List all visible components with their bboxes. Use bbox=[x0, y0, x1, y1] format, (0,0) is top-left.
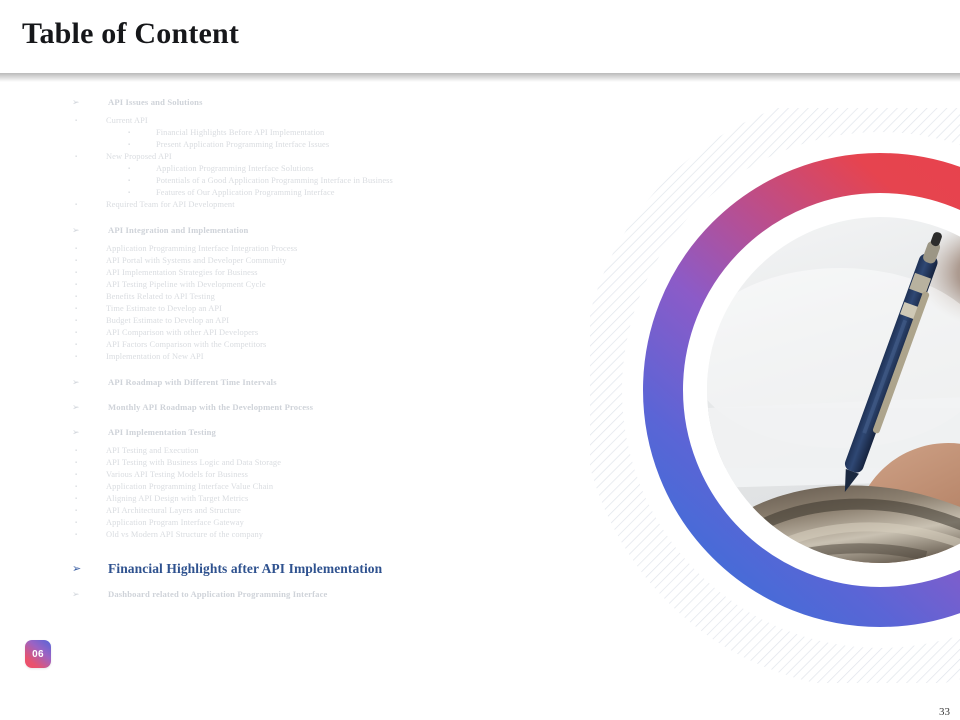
decorative-circle-graphic bbox=[590, 108, 960, 683]
square-bullet-icon: ▪ bbox=[75, 493, 106, 505]
toc-sub-entry[interactable]: ▪API Testing and Execution bbox=[0, 445, 600, 457]
toc-entry-label: API Testing Pipeline with Development Cy… bbox=[106, 279, 600, 291]
toc-sub-entry[interactable]: ▪Financial Highlights Before API Impleme… bbox=[0, 127, 600, 139]
toc-group-heading[interactable]: ➢API Roadmap with Different Time Interva… bbox=[0, 376, 600, 388]
spacer bbox=[0, 438, 600, 445]
toc-entry-label: New Proposed API bbox=[106, 151, 600, 163]
toc-entry-label: Features of Our Application Programming … bbox=[156, 187, 600, 199]
toc-entry-label: API Issues and Solutions bbox=[108, 96, 600, 108]
toc-entry-label: Financial Highlights Before API Implemen… bbox=[156, 127, 600, 139]
spacer bbox=[0, 413, 600, 426]
square-bullet-icon: ▪ bbox=[75, 327, 106, 339]
spacer bbox=[0, 108, 600, 115]
toc-entry-label: API Testing and Execution bbox=[106, 445, 600, 457]
toc-entry-label: Application Program Interface Gateway bbox=[106, 517, 600, 529]
toc-sub-entry[interactable]: ▪Aligning API Design with Target Metrics bbox=[0, 493, 600, 505]
page-title: Table of Content bbox=[22, 17, 239, 51]
toc-sub-entry[interactable]: ▪Application Programming Interface Solut… bbox=[0, 163, 600, 175]
table-of-content-list: ➢API Issues and Solutions▪Current API▪Fi… bbox=[0, 96, 600, 600]
section-number-badge: 06 bbox=[25, 640, 51, 668]
square-bullet-icon: ▪ bbox=[75, 315, 106, 327]
arrow-bullet-icon: ➢ bbox=[72, 96, 108, 108]
toc-group-heading[interactable]: ➢API Issues and Solutions bbox=[0, 96, 600, 108]
square-bullet-icon: ▪ bbox=[75, 255, 106, 267]
square-bullet-icon: ▪ bbox=[75, 457, 106, 469]
toc-entry-label: Aligning API Design with Target Metrics bbox=[106, 493, 600, 505]
toc-sub-entry[interactable]: ▪API Implementation Strategies for Busin… bbox=[0, 267, 600, 279]
square-bullet-icon: ▪ bbox=[75, 267, 106, 279]
toc-sub-entry[interactable]: ▪API Portal with Systems and Developer C… bbox=[0, 255, 600, 267]
square-bullet-icon: ▪ bbox=[75, 291, 106, 303]
toc-entry-label: Old vs Modern API Structure of the compa… bbox=[106, 529, 600, 541]
toc-entry-label: Application Programming Interface Value … bbox=[106, 481, 600, 493]
toc-sub-entry[interactable]: ▪Application Programming Interface Integ… bbox=[0, 243, 600, 255]
page-number: 33 bbox=[939, 706, 950, 718]
square-bullet-icon: ▪ bbox=[75, 151, 106, 163]
square-bullet-icon: ▪ bbox=[128, 139, 156, 151]
toc-group-heading[interactable]: ➢API Implementation Testing bbox=[0, 426, 600, 438]
arrow-bullet-icon: ➢ bbox=[72, 224, 108, 236]
square-bullet-icon: ▪ bbox=[75, 517, 106, 529]
toc-sub-entry[interactable]: ▪API Comparison with other API Developer… bbox=[0, 327, 600, 339]
square-bullet-icon: ▪ bbox=[75, 505, 106, 517]
toc-group-heading[interactable]: ➢API Integration and Implementation bbox=[0, 224, 600, 236]
square-bullet-icon: ▪ bbox=[75, 303, 106, 315]
header-divider bbox=[0, 72, 960, 82]
square-bullet-icon: ▪ bbox=[128, 175, 156, 187]
toc-sub-entry[interactable]: ▪Application Program Interface Gateway bbox=[0, 517, 600, 529]
toc-sub-entry[interactable]: ▪API Factors Comparison with the Competi… bbox=[0, 339, 600, 351]
square-bullet-icon: ▪ bbox=[75, 339, 106, 351]
arrow-bullet-icon: ➢ bbox=[72, 588, 108, 600]
toc-sub-entry[interactable]: ▪Time Estimate to Develop an API bbox=[0, 303, 600, 315]
toc-entry-label: Budget Estimate to Develop an API bbox=[106, 315, 600, 327]
spacer bbox=[0, 388, 600, 401]
toc-entry-label: Dashboard related to Application Program… bbox=[108, 588, 600, 600]
arrow-bullet-icon: ➢ bbox=[72, 426, 108, 438]
toc-entry-label: Various API Testing Models for Business bbox=[106, 469, 600, 481]
toc-group-heading[interactable]: ➢Dashboard related to Application Progra… bbox=[0, 588, 600, 600]
toc-entry-label: API Testing with Business Logic and Data… bbox=[106, 457, 600, 469]
toc-sub-entry[interactable]: ▪Present Application Programming Interfa… bbox=[0, 139, 600, 151]
square-bullet-icon: ▪ bbox=[75, 469, 106, 481]
toc-sub-entry[interactable]: ▪Budget Estimate to Develop an API bbox=[0, 315, 600, 327]
square-bullet-icon: ▪ bbox=[75, 279, 106, 291]
toc-entry-label: API Implementation Strategies for Busine… bbox=[106, 267, 600, 279]
toc-entry-label: API Architectural Layers and Structure bbox=[106, 505, 600, 517]
toc-sub-entry[interactable]: ▪API Architectural Layers and Structure bbox=[0, 505, 600, 517]
square-bullet-icon: ▪ bbox=[75, 199, 106, 211]
toc-entry-label: Financial Highlights after API Implement… bbox=[108, 563, 600, 575]
toc-sub-entry[interactable]: ▪New Proposed API bbox=[0, 151, 600, 163]
slide-canvas: Table of Content ➢API Issues and Solutio… bbox=[0, 0, 960, 720]
toc-sub-entry[interactable]: ▪API Testing Pipeline with Development C… bbox=[0, 279, 600, 291]
square-bullet-icon: ▪ bbox=[75, 351, 106, 363]
toc-sub-entry[interactable]: ▪Various API Testing Models for Business bbox=[0, 469, 600, 481]
toc-entry-label: Implementation of New API bbox=[106, 351, 600, 363]
section-number-label: 06 bbox=[32, 649, 44, 660]
toc-entry-label: API Factors Comparison with the Competit… bbox=[106, 339, 600, 351]
toc-entry-label: Required Team for API Development bbox=[106, 199, 600, 211]
toc-entry-label: Application Programming Interface Soluti… bbox=[156, 163, 600, 175]
square-bullet-icon: ▪ bbox=[75, 445, 106, 457]
toc-entry-label: Current API bbox=[106, 115, 600, 127]
toc-group-heading[interactable]: ➢Monthly API Roadmap with the Developmen… bbox=[0, 401, 600, 413]
toc-entry-label: Present Application Programming Interfac… bbox=[156, 139, 600, 151]
toc-entry-label: Potentials of a Good Application Program… bbox=[156, 175, 600, 187]
toc-sub-entry[interactable]: ▪Application Programming Interface Value… bbox=[0, 481, 600, 493]
toc-sub-entry[interactable]: ▪Implementation of New API bbox=[0, 351, 600, 363]
spacer bbox=[0, 236, 600, 243]
arrow-bullet-icon: ➢ bbox=[72, 401, 108, 413]
toc-sub-entry[interactable]: ▪Benefits Related to API Testing bbox=[0, 291, 600, 303]
toc-entry-label: API Comparison with other API Developers bbox=[106, 327, 600, 339]
arrow-bullet-icon: ➢ bbox=[72, 376, 108, 388]
toc-sub-entry[interactable]: ▪Potentials of a Good Application Progra… bbox=[0, 175, 600, 187]
toc-entry-label: Application Programming Interface Integr… bbox=[106, 243, 600, 255]
toc-sub-entry[interactable]: ▪API Testing with Business Logic and Dat… bbox=[0, 457, 600, 469]
toc-entry-label: Benefits Related to API Testing bbox=[106, 291, 600, 303]
square-bullet-icon: ▪ bbox=[75, 115, 106, 127]
square-bullet-icon: ▪ bbox=[128, 163, 156, 175]
square-bullet-icon: ▪ bbox=[75, 481, 106, 493]
square-bullet-icon: ▪ bbox=[75, 243, 106, 255]
toc-entry-label: API Implementation Testing bbox=[108, 426, 600, 438]
spacer bbox=[0, 363, 600, 376]
square-bullet-icon: ▪ bbox=[75, 529, 106, 541]
square-bullet-icon: ▪ bbox=[128, 187, 156, 199]
arrow-bullet-icon: ➢ bbox=[72, 563, 108, 575]
toc-entry-highlighted[interactable]: ➢Financial Highlights after API Implemen… bbox=[0, 563, 600, 575]
spacer bbox=[0, 575, 600, 588]
toc-sub-entry[interactable]: ▪Required Team for API Development bbox=[0, 199, 600, 211]
toc-entry-label: API Roadmap with Different Time Interval… bbox=[108, 376, 600, 388]
toc-sub-entry[interactable]: ▪Features of Our Application Programming… bbox=[0, 187, 600, 199]
toc-entry-label: Monthly API Roadmap with the Development… bbox=[108, 401, 600, 413]
toc-sub-entry[interactable]: ▪Old vs Modern API Structure of the comp… bbox=[0, 529, 600, 541]
toc-sub-entry[interactable]: ▪Current API bbox=[0, 115, 600, 127]
toc-entry-label: Time Estimate to Develop an API bbox=[106, 303, 600, 315]
square-bullet-icon: ▪ bbox=[128, 127, 156, 139]
toc-entry-label: API Integration and Implementation bbox=[108, 224, 600, 236]
spacer bbox=[0, 211, 600, 224]
spacer bbox=[0, 541, 600, 563]
toc-entry-label: API Portal with Systems and Developer Co… bbox=[106, 255, 600, 267]
